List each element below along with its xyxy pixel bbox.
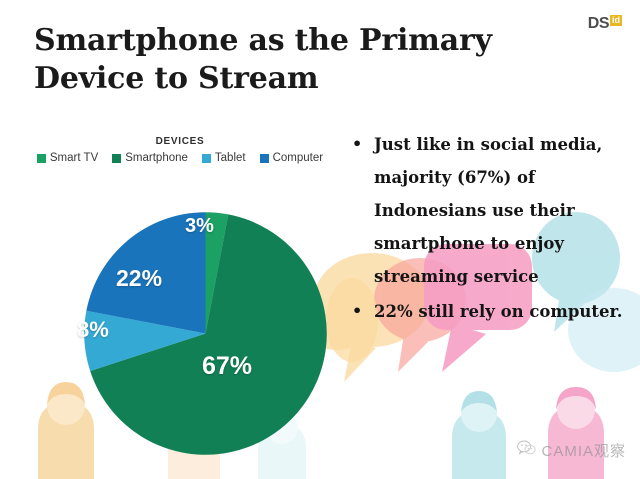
- slide-canvas: DS id Smartphone as the Primary Device t…: [0, 0, 640, 479]
- pie-chart-block: DEVICES Smart TV Smartphone Tablet Compu…: [0, 136, 360, 424]
- logo-mark-text: DS: [588, 16, 609, 32]
- legend-item-computer[interactable]: Computer: [260, 152, 324, 164]
- bullet-list: • Just like in social media, majority (6…: [352, 128, 632, 330]
- bullet-text: 22% still rely on computer.: [374, 295, 632, 328]
- logo-suffix-badge: id: [610, 15, 622, 26]
- wechat-icon: [517, 440, 536, 461]
- person-silhouette-pink: [548, 387, 604, 479]
- pie-slice-label-smartphone: 67%: [202, 352, 252, 381]
- legend-swatch-icon-smart-tv: [37, 154, 46, 163]
- legend-label-smart-tv: Smart TV: [50, 152, 98, 164]
- bullet-marker-icon: •: [352, 295, 374, 327]
- chart-legend-title: DEVICES: [0, 136, 360, 147]
- pie-chart-svg[interactable]: [83, 211, 328, 456]
- bullet-marker-icon: •: [352, 128, 374, 160]
- bullet-text: Just like in social media, majority (67%…: [374, 128, 632, 293]
- legend-label-computer: Computer: [273, 152, 324, 164]
- dsid-logo: DS id: [588, 16, 622, 32]
- page-title: Smartphone as the Primary Device to Stre…: [34, 22, 554, 99]
- pie-slice-label-tablet: 8%: [77, 317, 109, 343]
- watermark: CAMIA观察: [517, 440, 626, 461]
- legend-swatch-icon-tablet: [202, 154, 211, 163]
- legend-item-tablet[interactable]: Tablet: [202, 152, 246, 164]
- legend-label-smartphone: Smartphone: [125, 152, 188, 164]
- pie-chart-area: 3% 67% 8% 22%: [0, 164, 360, 424]
- chart-legend: Smart TV Smartphone Tablet Computer: [0, 152, 360, 164]
- legend-item-smart-tv[interactable]: Smart TV: [37, 152, 98, 164]
- legend-swatch-icon-smartphone: [112, 154, 121, 163]
- legend-swatch-icon-computer: [260, 154, 269, 163]
- watermark-text: CAMIA观察: [541, 440, 626, 461]
- pie-slice-label-computer: 22%: [116, 265, 162, 292]
- pie-slice-label-smart-tv: 3%: [185, 215, 214, 238]
- bullet-item: • Just like in social media, majority (6…: [352, 128, 632, 293]
- bullet-item: • 22% still rely on computer.: [352, 295, 632, 328]
- legend-label-tablet: Tablet: [215, 152, 246, 164]
- legend-item-smartphone[interactable]: Smartphone: [112, 152, 188, 164]
- person-silhouette-teal: [452, 391, 506, 479]
